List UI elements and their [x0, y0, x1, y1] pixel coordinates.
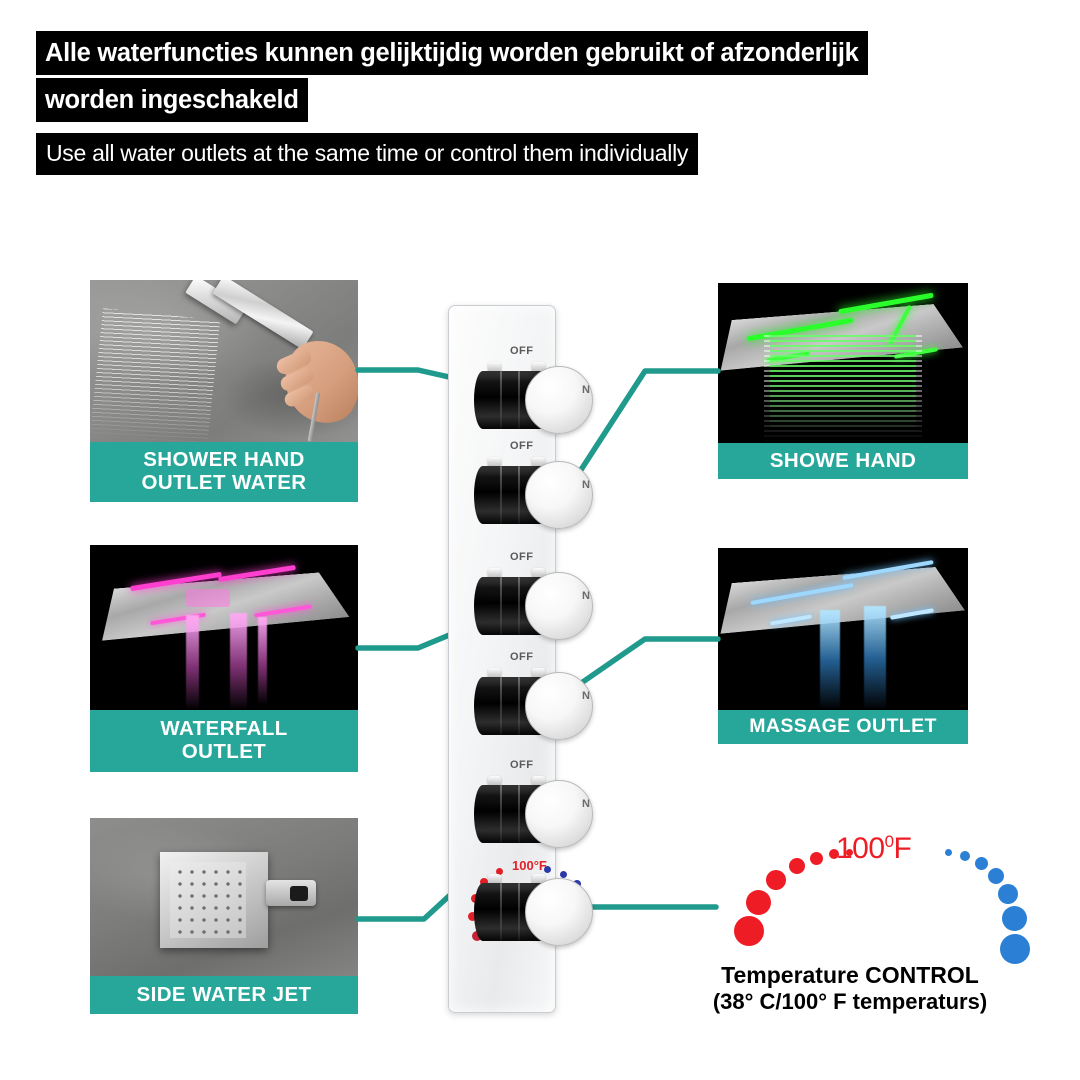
gauge-cold-dot-5 — [998, 884, 1018, 904]
knob-3-off-label: OFF — [510, 551, 534, 563]
valve-knob-2[interactable]: OFF N — [470, 457, 588, 531]
caption-line2: OUTLET — [182, 741, 266, 764]
knob-2-face[interactable] — [525, 461, 593, 529]
card-side-water-jet[interactable]: SIDE WATER JET — [90, 818, 358, 1014]
page-title-line2-text: worden ingeschakeld — [36, 78, 308, 122]
photo-blue-led-massage-jets — [718, 548, 968, 710]
knob-1-on-label: N — [582, 384, 590, 396]
valve-knob-3[interactable]: OFF N — [470, 568, 588, 642]
caption-massage-outlet: MASSAGE OUTLET — [718, 710, 968, 744]
knob-3-face[interactable] — [525, 572, 593, 640]
knob-4-on-label: N — [582, 690, 590, 702]
knob-5-on-label: N — [582, 798, 590, 810]
page-title-line1-text: Alle waterfuncties kunnen gelijktijdig w… — [36, 31, 868, 75]
card-shower-hand-outlet-water[interactable]: SHOWER HAND OUTLET WATER — [90, 280, 358, 502]
knob-2-on-label: N — [582, 479, 590, 491]
gauge-hot-dot-1 — [734, 916, 764, 946]
card-massage-outlet[interactable]: MASSAGE OUTLET — [718, 548, 968, 744]
caption-line1: SHOWE HAND — [770, 450, 916, 473]
gauge-cold-dot-6 — [1002, 906, 1027, 931]
knob-5-face[interactable] — [525, 780, 593, 848]
page-title-line2: worden ingeschakeld — [36, 78, 308, 122]
knob-2-off-label: OFF — [510, 440, 534, 452]
knob-1-off-label: OFF — [510, 345, 534, 357]
gauge-value-label: 1000F — [836, 832, 911, 866]
temperature-control-title: Temperature CONTROL — [660, 962, 1040, 989]
gauge-cold-dot-1 — [945, 849, 952, 856]
knob-1-face[interactable] — [525, 366, 593, 434]
temperature-knob-label: 100°F — [512, 858, 547, 873]
caption-line1: WATERFALL — [160, 718, 287, 741]
temperature-gauge: 1000F — [730, 840, 970, 960]
valve-knob-5[interactable]: OFF N — [470, 776, 588, 850]
caption-waterfall-outlet: WATERFALL OUTLET — [90, 710, 358, 772]
photo-waterfall-pink-led — [90, 545, 358, 710]
gauge-hot-dot-3 — [766, 870, 786, 890]
card-waterfall-outlet[interactable]: WATERFALL OUTLET — [90, 545, 358, 772]
gauge-hot-dot-4 — [789, 858, 805, 874]
knob-3-on-label: N — [582, 590, 590, 602]
caption-line1: SHOWER HAND — [143, 449, 305, 472]
caption-side-water-jet: SIDE WATER JET — [90, 976, 358, 1014]
caption-line2: OUTLET WATER — [142, 472, 307, 495]
page-subtitle-text: Use all water outlets at the same time o… — [36, 133, 698, 175]
card-showe-hand[interactable]: SHOWE HAND — [718, 283, 968, 479]
page-subtitle: Use all water outlets at the same time o… — [36, 133, 698, 175]
infographic-stage: Alle waterfuncties kunnen gelijktijdig w… — [0, 0, 1080, 1080]
page-title-line1: Alle waterfuncties kunnen gelijktijdig w… — [36, 31, 868, 75]
caption-line1: SIDE WATER JET — [137, 984, 312, 1007]
knob-4-face[interactable] — [525, 672, 593, 740]
valve-knob-temperature[interactable]: 100°F — [470, 874, 588, 948]
temperature-control-caption: Temperature CONTROL (38° C/100° F temper… — [660, 962, 1040, 1015]
temperature-control-subtitle: (38° C/100° F temperaturs) — [660, 989, 1040, 1015]
caption-showe-hand: SHOWE HAND — [718, 443, 968, 479]
gauge-hot-dot-5 — [810, 852, 823, 865]
knob-4-off-label: OFF — [510, 651, 534, 663]
gauge-cold-dot-4 — [988, 868, 1004, 884]
gauge-cold-dot-3 — [975, 857, 988, 870]
gauge-hot-dot-2 — [746, 890, 771, 915]
valve-knob-4[interactable]: OFF N — [470, 668, 588, 742]
valve-knob-1[interactable]: OFF N — [470, 362, 588, 436]
caption-line1: MASSAGE OUTLET — [749, 716, 937, 738]
photo-green-led-rain-shower — [718, 283, 968, 443]
gauge-cold-dot-7 — [1000, 934, 1030, 964]
photo-side-water-jet — [90, 818, 358, 976]
gauge-cold-dot-2 — [960, 851, 970, 861]
temperature-knob-face[interactable] — [525, 878, 593, 946]
caption-shower-hand-outlet-water: SHOWER HAND OUTLET WATER — [90, 442, 358, 502]
photo-shower-hand-wand — [90, 280, 358, 442]
knob-5-off-label: OFF — [510, 759, 534, 771]
